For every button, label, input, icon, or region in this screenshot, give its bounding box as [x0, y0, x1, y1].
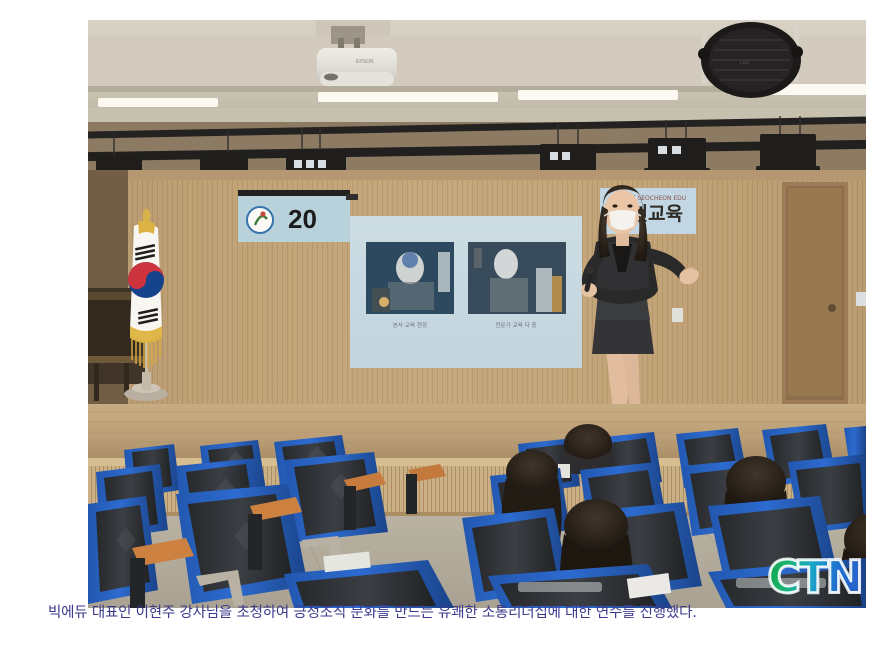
article-body: EPSON	[0, 0, 877, 646]
photo-caption: 빅에듀 대표인 이현주 강사님을 초청하여 긍정조직 문화를 만드는 유쾌한 소…	[48, 602, 848, 624]
auditorium-lecture-photo: EPSON	[88, 20, 866, 608]
photo-canvas: EPSON	[88, 20, 866, 608]
